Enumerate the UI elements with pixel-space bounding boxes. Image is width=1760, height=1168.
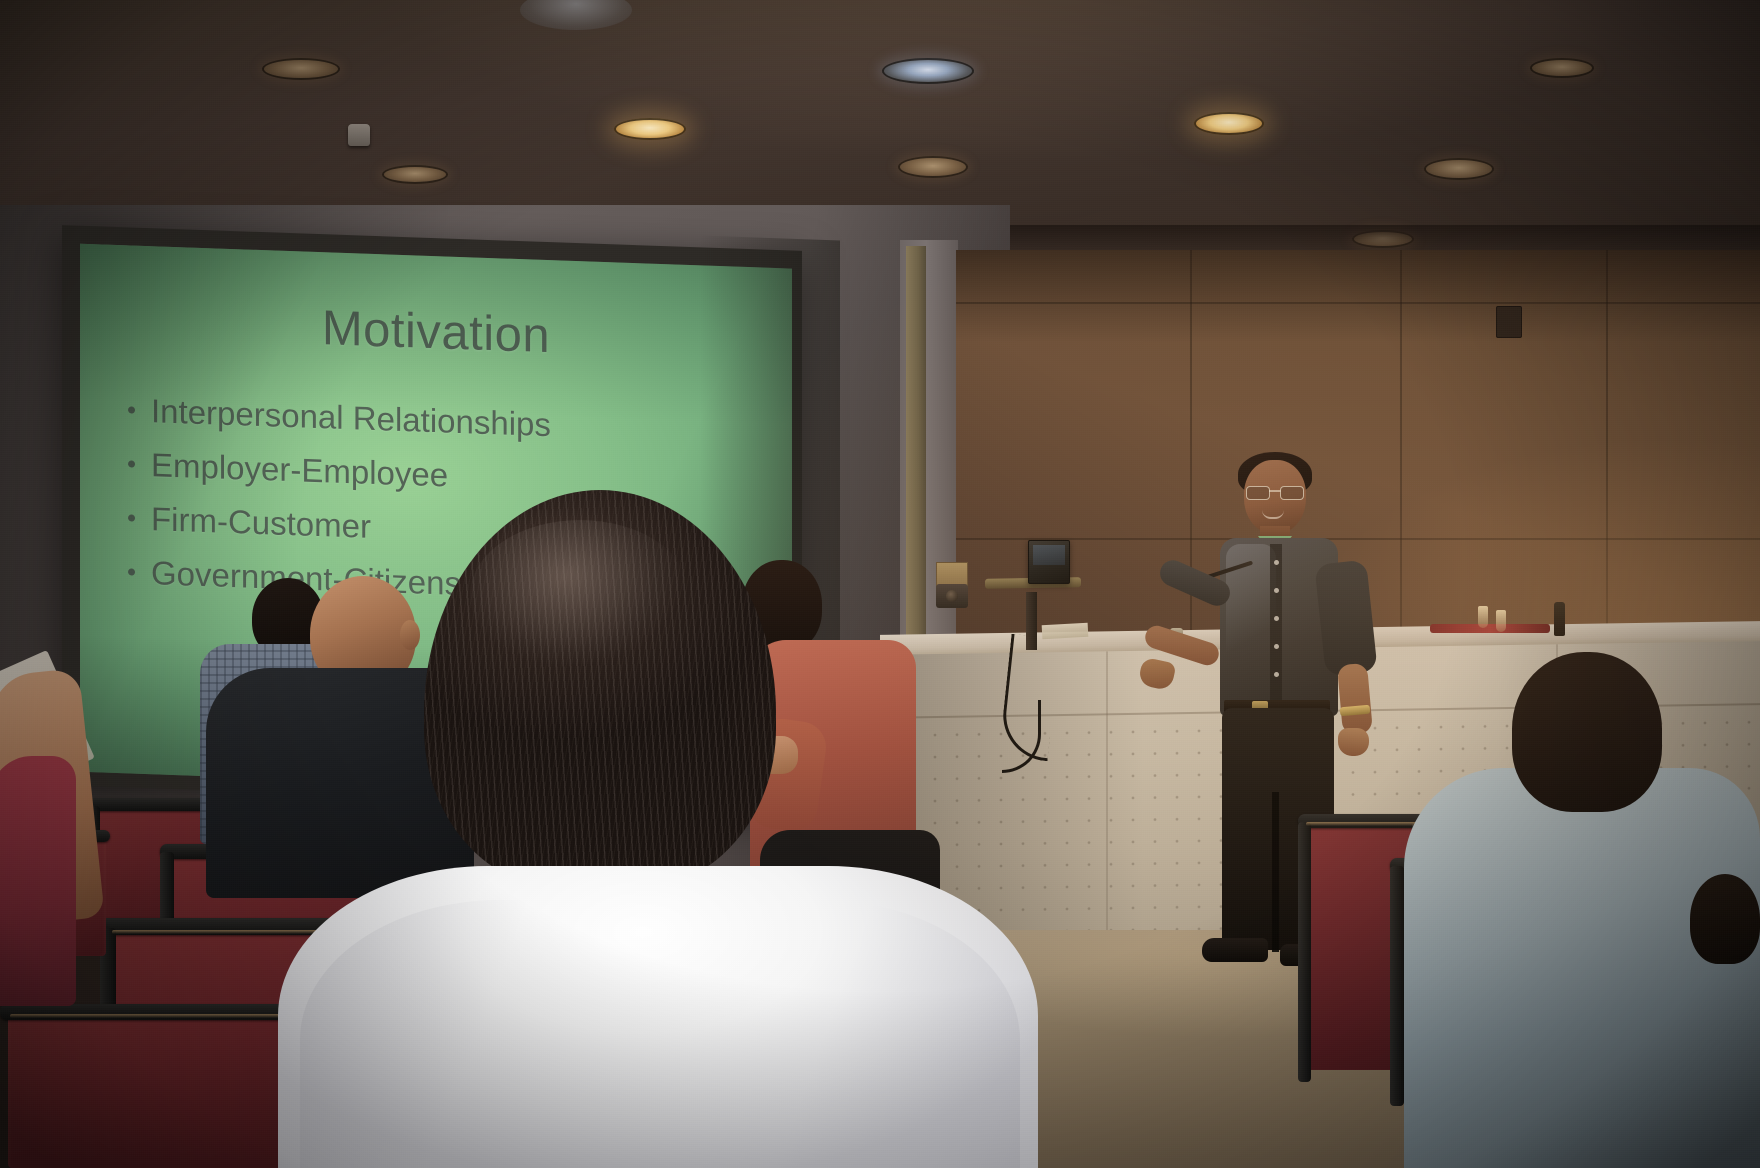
ceiling-spotlight-7 xyxy=(1424,158,1494,180)
presenter-left-shoe xyxy=(1202,938,1268,962)
chair-highlight xyxy=(1306,822,1418,826)
presenter-right-hand xyxy=(1338,728,1369,756)
presenter-left-hand xyxy=(1137,657,1176,691)
photo-scene: Motivation Interpersonal Relationships E… xyxy=(0,0,1760,1168)
chair-seatback xyxy=(8,1012,308,1168)
trouser-leg-gap xyxy=(1272,792,1279,952)
red-folder xyxy=(1430,624,1550,633)
lectern-monitor[interactable] xyxy=(1028,540,1070,584)
audience-member-grey-shirt-head xyxy=(1512,652,1662,812)
white-shirt-shading xyxy=(300,900,1020,1168)
shirt-button xyxy=(1274,588,1279,593)
ceiling-spotlight-3 xyxy=(882,58,974,84)
drinking-glass xyxy=(1478,606,1488,628)
ceiling-spotlight-1 xyxy=(262,58,340,80)
chair-leg xyxy=(1298,822,1311,1082)
ceiling-spotlight-9 xyxy=(1530,58,1594,78)
shirt-button xyxy=(1274,616,1279,621)
wall-speaker-icon xyxy=(1496,306,1522,338)
shirt-button xyxy=(1274,560,1279,565)
ceiling-spotlight-2 xyxy=(382,165,448,184)
hair-highlight xyxy=(470,520,690,670)
drinking-glass xyxy=(1496,610,1506,632)
pillar-wood-trim xyxy=(906,246,926,666)
wall-av-connector-icon[interactable] xyxy=(936,584,968,608)
ceiling-spotlight-4 xyxy=(614,118,686,140)
ceiling-spotlight-5 xyxy=(898,156,968,178)
presenter-right-upper-arm xyxy=(1314,560,1377,677)
ceiling-spotlight-6 xyxy=(1194,112,1264,135)
presenter-right-forearm xyxy=(1337,663,1373,735)
monitor-screen xyxy=(1033,545,1065,565)
audience-member-grey-shirt xyxy=(1404,768,1760,1168)
shirt-button xyxy=(1274,672,1279,677)
audience-member-far-right-head xyxy=(1690,874,1760,964)
glasses-icon xyxy=(1246,486,1304,498)
bottle xyxy=(1554,602,1565,636)
smoke-detector-icon xyxy=(348,124,370,146)
audience-member-ear xyxy=(400,620,420,650)
audience-member-pink-top xyxy=(0,756,76,1006)
presenter-shirt-placket xyxy=(1270,544,1282,708)
chair-highlight xyxy=(10,1014,306,1018)
shirt-button xyxy=(1274,644,1279,649)
chair-leg xyxy=(1390,866,1404,1106)
